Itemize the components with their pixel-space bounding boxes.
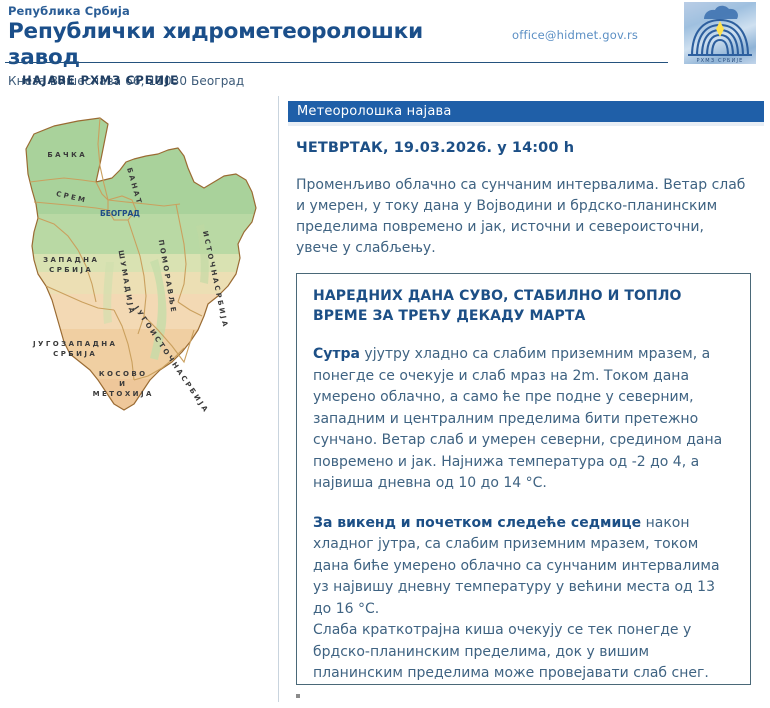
map-label-backa: Б А Ч К А [47,151,85,159]
forecast-date: ЧЕТВРТАК, 19.03.2026. у 14:00 h [296,140,574,156]
masthead: Република Србија Републички хидрометеоро… [0,0,770,66]
forecast-banner-label: Метеоролошка најава [297,104,452,119]
outlook-paragraph-tomorrow: Сутра ујутру хладно са слабим приземним … [313,344,733,495]
outlook-heading: НАРЕДНИХ ДАНА СУВО, СТАБИЛНО И ТОПЛО ВРЕ… [313,286,733,326]
contact-email[interactable]: office@hidmet.gov.rs [512,28,638,42]
country-name: Република Србија [8,4,478,18]
map-label-jugozapadna-srbija-2: С Р Б И Ј А [53,350,95,358]
forecast-banner: Метеоролошка најава [288,101,764,122]
hidmet-emblem-icon: РХМЗ СРБИЈЕ [684,2,756,64]
institute-name: Републички хидрометеоролошки завод [8,19,478,71]
page-tail-marker [296,694,300,698]
map-label-kosovo-i: И [119,380,125,388]
outlook-body-tomorrow: ујутру хладно са слабим приземним мразем… [313,346,722,491]
map-label-kosovo: К О С О В О [99,370,145,378]
map-label-zapadna-srbija-2: С Р Б И Ј А [49,266,91,274]
column-divider [278,96,279,702]
outlook-body-rain: Слаба краткотрајна киша очекују се тек п… [313,622,709,681]
map-label-metohija: М Е Т О Х И Ј А [93,390,152,398]
map-label-beograd: БЕОГРАД [100,209,140,218]
masthead-divider [5,62,668,63]
banner-underline [288,122,764,126]
outlook-box: НАРЕДНИХ ДАНА СУВО, СТАБИЛНО И ТОПЛО ВРЕ… [296,273,751,685]
map-label-zapadna-srbija: З А П А Д Н А [43,256,97,264]
outlook-paragraph-weekend: За викенд и почетком следеће седмице нак… [313,513,733,685]
forecast-intro-text: Променљиво облачно са сунчаним интервали… [296,175,748,259]
nav-title: НАЈАВЕ РХМЗ СРБИЈЕ [22,73,179,87]
outlook-lead-weekend: За викенд и почетком следеће седмице [313,515,641,531]
serbia-regions-map[interactable]: Б А Ч К А Б А Н А Т С Р Е М БЕОГРАД З А … [8,104,276,504]
outlook-box-content: НАРЕДНИХ ДАНА СУВО, СТАБИЛНО И ТОПЛО ВРЕ… [313,286,733,685]
outlook-lead-tomorrow: Сутра [313,346,360,362]
map-label-jugozapadna-srbija: Ј У Г О З А П А Д Н А [32,340,116,348]
svg-text:РХМЗ СРБИЈЕ: РХМЗ СРБИЈЕ [696,58,743,64]
